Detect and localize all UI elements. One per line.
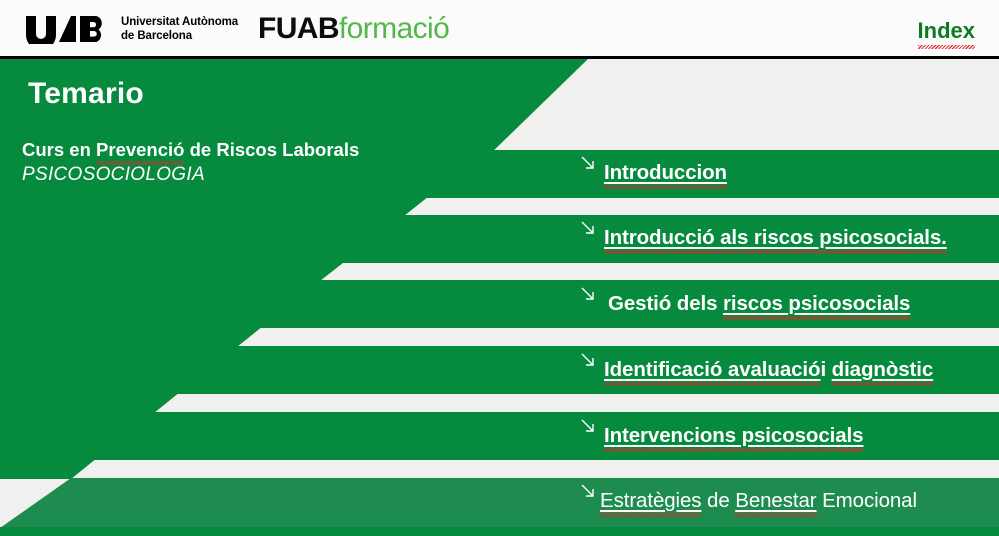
topic-label-6-b: de bbox=[701, 489, 735, 512]
fuab-logo-bold-text: FUAB bbox=[258, 12, 339, 45]
slide-body: Temario Curs en Prevenció de Riscos Labo… bbox=[0, 59, 999, 536]
uab-logo: Universitat Autònoma de Barcelona bbox=[24, 14, 238, 44]
index-link-label: Index bbox=[918, 18, 975, 44]
index-link[interactable]: Index bbox=[918, 18, 975, 44]
topic-link-3[interactable]: Gestió dels riscos psicosocials bbox=[608, 292, 910, 316]
uab-logo-mark bbox=[24, 14, 112, 44]
course-subtitle-part-a: Curs en bbox=[22, 139, 96, 160]
uab-wordmark-line1: Universitat Autònoma bbox=[121, 15, 238, 29]
fuab-formacio-logo: FUABformació bbox=[258, 13, 449, 45]
topic-label-1: Introduccion bbox=[604, 161, 727, 185]
slide-header: Universitat Autònoma de Barcelona FUABfo… bbox=[0, 0, 999, 57]
course-subtitle-part-b: Prevenció bbox=[96, 139, 184, 161]
presentation-slide: Universitat Autònoma de Barcelona FUABfo… bbox=[0, 0, 999, 536]
green-band-bottom-sliver bbox=[0, 527, 999, 536]
uab-logo-wordmark: Universitat Autònoma de Barcelona bbox=[121, 15, 238, 43]
topic-label-3-prefix: Gestió dels bbox=[608, 292, 723, 315]
course-subtitle-part-c: de Riscos Laborals bbox=[184, 139, 359, 160]
topic-link-2[interactable]: Introducció als riscos psicosocials. bbox=[604, 226, 947, 250]
course-subtitle: Curs en Prevenció de Riscos Laborals bbox=[22, 139, 359, 161]
uab-wordmark-line2: de Barcelona bbox=[121, 29, 238, 43]
topic-link-5[interactable]: Intervencions psicosocials bbox=[604, 424, 863, 448]
topic-label-4-a: Identificació avaluació bbox=[604, 358, 820, 382]
topic-label-6-a: Estratègies bbox=[600, 489, 701, 513]
topic-label-2: Introducció als riscos psicosocials. bbox=[604, 226, 947, 250]
page-title: Temario bbox=[28, 77, 144, 111]
topic-label-4-b: i bbox=[820, 358, 831, 381]
topic-label-5: Intervencions psicosocials bbox=[604, 424, 863, 448]
fuab-logo-light-text: formació bbox=[339, 12, 449, 45]
course-discipline: PSICOSOCIOLOGIA bbox=[22, 164, 205, 186]
header-divider-rule bbox=[0, 56, 999, 59]
topic-link-6[interactable]: Estratègies de Benestar Emocional bbox=[600, 489, 917, 513]
topic-link-4[interactable]: Identificació avaluació i diagnòstic bbox=[604, 358, 933, 382]
topic-label-4-c: diagnòstic bbox=[832, 358, 934, 382]
topic-link-1[interactable]: Introduccion bbox=[604, 161, 727, 185]
topic-label-3: riscos psicosocials bbox=[723, 292, 910, 316]
topic-label-6-d: Emocional bbox=[817, 489, 917, 512]
topic-label-6-c: Benestar bbox=[735, 489, 816, 513]
